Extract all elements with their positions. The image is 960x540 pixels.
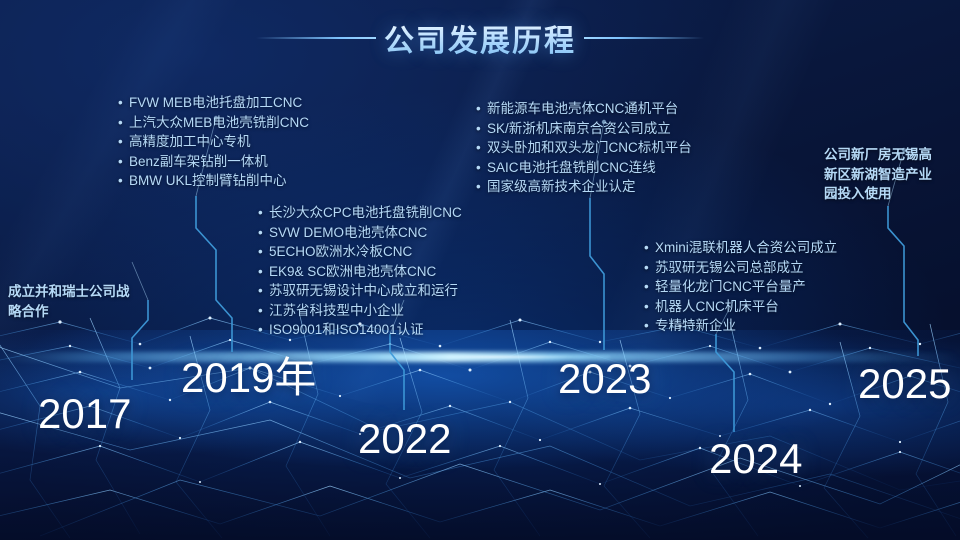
milestone-text-2022: •长沙大众CPC电池托盘铣削CNC •SVW DEMO电池壳体CNC •5ECH… [258,203,462,340]
page-title: 公司发展历程 [376,16,584,60]
milestone-line: 略合作 [8,302,134,322]
list-item: •高精度加工中心专机 [118,132,309,152]
list-item-label: 上汽大众MEB电池壳铣削CNC [129,115,309,130]
title-rule-right-icon [584,37,704,39]
milestone-line: 园投入使用 [824,184,942,204]
list-item: •长沙大众CPC电池托盘铣削CNC [258,203,462,223]
bullet-icon: • [644,297,655,317]
list-item-label: 长沙大众CPC电池托盘铣削CNC [269,205,462,220]
mesh-wireframe-icon [0,310,960,540]
slide-canvas: 公司发展历程 [0,0,960,540]
milestone-text-2023: •新能源车电池壳体CNC通机平台 •SK/新浙机床南京合资公司成立 •双头卧加和… [476,99,692,197]
list-item: •Xmini混联机器人合资公司成立 [644,238,837,258]
bullet-icon: • [476,99,487,119]
list-item-label: SAIC电池托盘铣削CNC连线 [487,160,656,175]
bullet-icon: • [476,138,487,158]
list-item: •Benz副车架钻削一体机 [118,152,309,172]
milestone-list-2019: •FVW MEB电池托盘加工CNC •上汽大众MEB电池壳铣削CNC •高精度加… [118,93,309,191]
bullet-icon: • [118,171,129,191]
milestone-line: 新区新湖智造产业 [824,165,942,185]
bullet-icon: • [258,262,269,282]
list-item-label: Xmini混联机器人合资公司成立 [655,240,837,255]
list-item: •上汽大众MEB电池壳铣削CNC [118,113,309,133]
list-item: •FVW MEB电池托盘加工CNC [118,93,309,113]
year-label-2017: 2017 [38,390,131,438]
list-item: •新能源车电池壳体CNC通机平台 [476,99,692,119]
list-item-label: BMW UKL控制臂钻削中心 [129,173,287,188]
bullet-icon: • [258,223,269,243]
bullet-icon: • [258,320,269,340]
list-item: •轻量化龙门CNC平台量产 [644,277,837,297]
bullet-icon: • [118,113,129,133]
list-item: •SVW DEMO电池壳体CNC [258,223,462,243]
list-item-label: 国家级高新技术企业认定 [487,179,636,194]
milestone-list-2022: •长沙大众CPC电池托盘铣削CNC •SVW DEMO电池壳体CNC •5ECH… [258,203,462,340]
list-item: •机器人CNC机床平台 [644,297,837,317]
list-item: •苏驭研无锡公司总部成立 [644,258,837,278]
list-item: •ISO9001和ISO14001认证 [258,320,462,340]
slide-title-bar: 公司发展历程 [0,16,960,60]
list-item: •双头卧加和双头龙门CNC标机平台 [476,138,692,158]
bullet-icon: • [258,301,269,321]
year-label-2022: 2022 [358,415,451,463]
list-item-label: 5ECHO欧洲水冷板CNC [269,244,412,259]
milestone-text-2017: 成立并和瑞士公司战 略合作 [8,282,134,321]
bullet-icon: • [258,281,269,301]
list-item-label: ISO9001和ISO14001认证 [269,322,424,337]
bullet-icon: • [118,93,129,113]
bullet-icon: • [476,158,487,178]
list-item: •BMW UKL控制臂钻削中心 [118,171,309,191]
milestone-list-2023: •新能源车电池壳体CNC通机平台 •SK/新浙机床南京合资公司成立 •双头卧加和… [476,99,692,197]
milestone-text-2019: •FVW MEB电池托盘加工CNC •上汽大众MEB电池壳铣削CNC •高精度加… [118,93,309,191]
milestone-text-2025: 公司新厂房无锡高 新区新湖智造产业 园投入使用 [824,145,942,204]
list-item-label: 轻量化龙门CNC平台量产 [655,279,806,294]
list-item-label: SK/新浙机床南京合资公司成立 [487,121,671,136]
bullet-icon: • [644,316,655,336]
year-label-2025: 2025 [858,360,951,408]
milestone-line: 公司新厂房无锡高 [824,145,942,165]
list-item-label: 高精度加工中心专机 [129,134,251,149]
list-item-label: 专精特新企业 [655,318,736,333]
list-item-label: FVW MEB电池托盘加工CNC [129,95,302,110]
bullet-icon: • [644,258,655,278]
network-mesh-graphic [0,310,960,540]
bullet-icon: • [644,238,655,258]
list-item-label: 江苏省科技型中小企业 [269,303,404,318]
list-item: •SAIC电池托盘铣削CNC连线 [476,158,692,178]
list-item: •苏驭研无锡设计中心成立和运行 [258,281,462,301]
list-item: •5ECHO欧洲水冷板CNC [258,242,462,262]
bullet-icon: • [258,203,269,223]
list-item-label: 双头卧加和双头龙门CNC标机平台 [487,140,692,155]
list-item: •专精特新企业 [644,316,837,336]
year-label-2024: 2024 [709,435,802,483]
bullet-icon: • [476,119,487,139]
list-item-label: SVW DEMO电池壳体CNC [269,225,427,240]
title-rule-left-icon [256,37,376,39]
list-item-label: 新能源车电池壳体CNC通机平台 [487,101,678,116]
year-label-2019: 2019年 [181,344,316,405]
milestone-list-2024: •Xmini混联机器人合资公司成立 •苏驭研无锡公司总部成立 •轻量化龙门CNC… [644,238,837,336]
list-item-label: EK9& SC欧洲电池壳体CNC [269,264,436,279]
year-label-2023: 2023 [558,355,651,403]
bullet-icon: • [118,152,129,172]
bullet-icon: • [118,132,129,152]
bullet-icon: • [258,242,269,262]
list-item: •EK9& SC欧洲电池壳体CNC [258,262,462,282]
list-item: •国家级高新技术企业认定 [476,177,692,197]
bullet-icon: • [644,277,655,297]
list-item-label: 机器人CNC机床平台 [655,299,779,314]
list-item-label: 苏驭研无锡公司总部成立 [655,260,804,275]
list-item-label: 苏驭研无锡设计中心成立和运行 [269,283,458,298]
list-item: •江苏省科技型中小企业 [258,301,462,321]
bullet-icon: • [476,177,487,197]
list-item: •SK/新浙机床南京合资公司成立 [476,119,692,139]
milestone-text-2024: •Xmini混联机器人合资公司成立 •苏驭研无锡公司总部成立 •轻量化龙门CNC… [644,238,837,336]
milestone-line: 成立并和瑞士公司战 [8,282,134,302]
list-item-label: Benz副车架钻削一体机 [129,154,268,169]
